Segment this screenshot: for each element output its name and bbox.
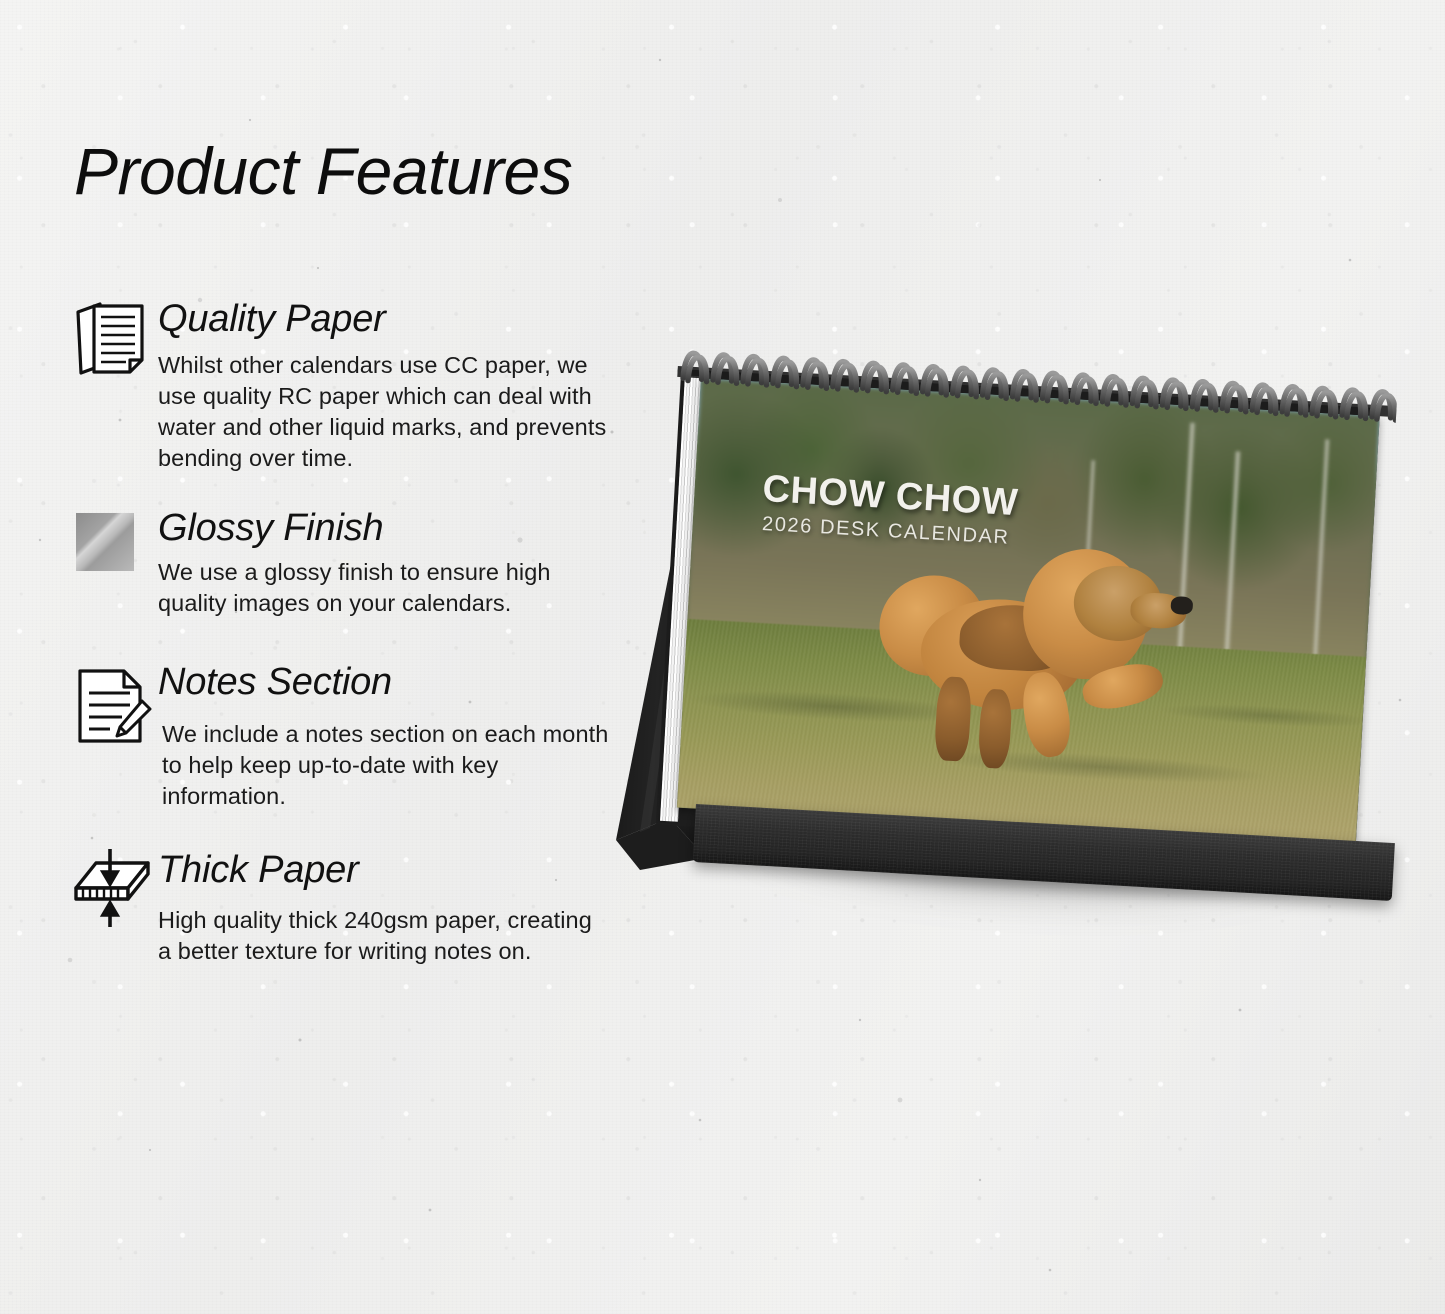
calendar-cover-photo: CHOW CHOW 2026 DESK CALENDAR [677, 378, 1380, 845]
photo-chow-chow-dog [883, 518, 1209, 784]
desk-calendar-product-image: CHOW CHOW 2026 DESK CALENDAR [600, 310, 1410, 960]
thick-slab-icon [70, 843, 158, 931]
feature-body: We use a glossy finish to ensure high qu… [158, 557, 610, 619]
feature-heading: Glossy Finish [158, 507, 383, 550]
feature-body: High quality thick 240gsm paper, creatin… [158, 905, 610, 967]
feature-heading: Thick Paper [158, 849, 359, 892]
glossy-sheen-icon [70, 505, 158, 593]
feature-body: Whilst other calendars use CC paper, we … [158, 350, 610, 474]
stacked-paper-icon [70, 296, 158, 384]
feature-heading: Notes Section [158, 661, 392, 704]
note-pencil-icon [70, 663, 158, 751]
feature-body: We include a notes section on each month… [162, 719, 614, 812]
page-title: Product Features [74, 133, 572, 209]
feature-heading: Quality Paper [158, 298, 386, 341]
